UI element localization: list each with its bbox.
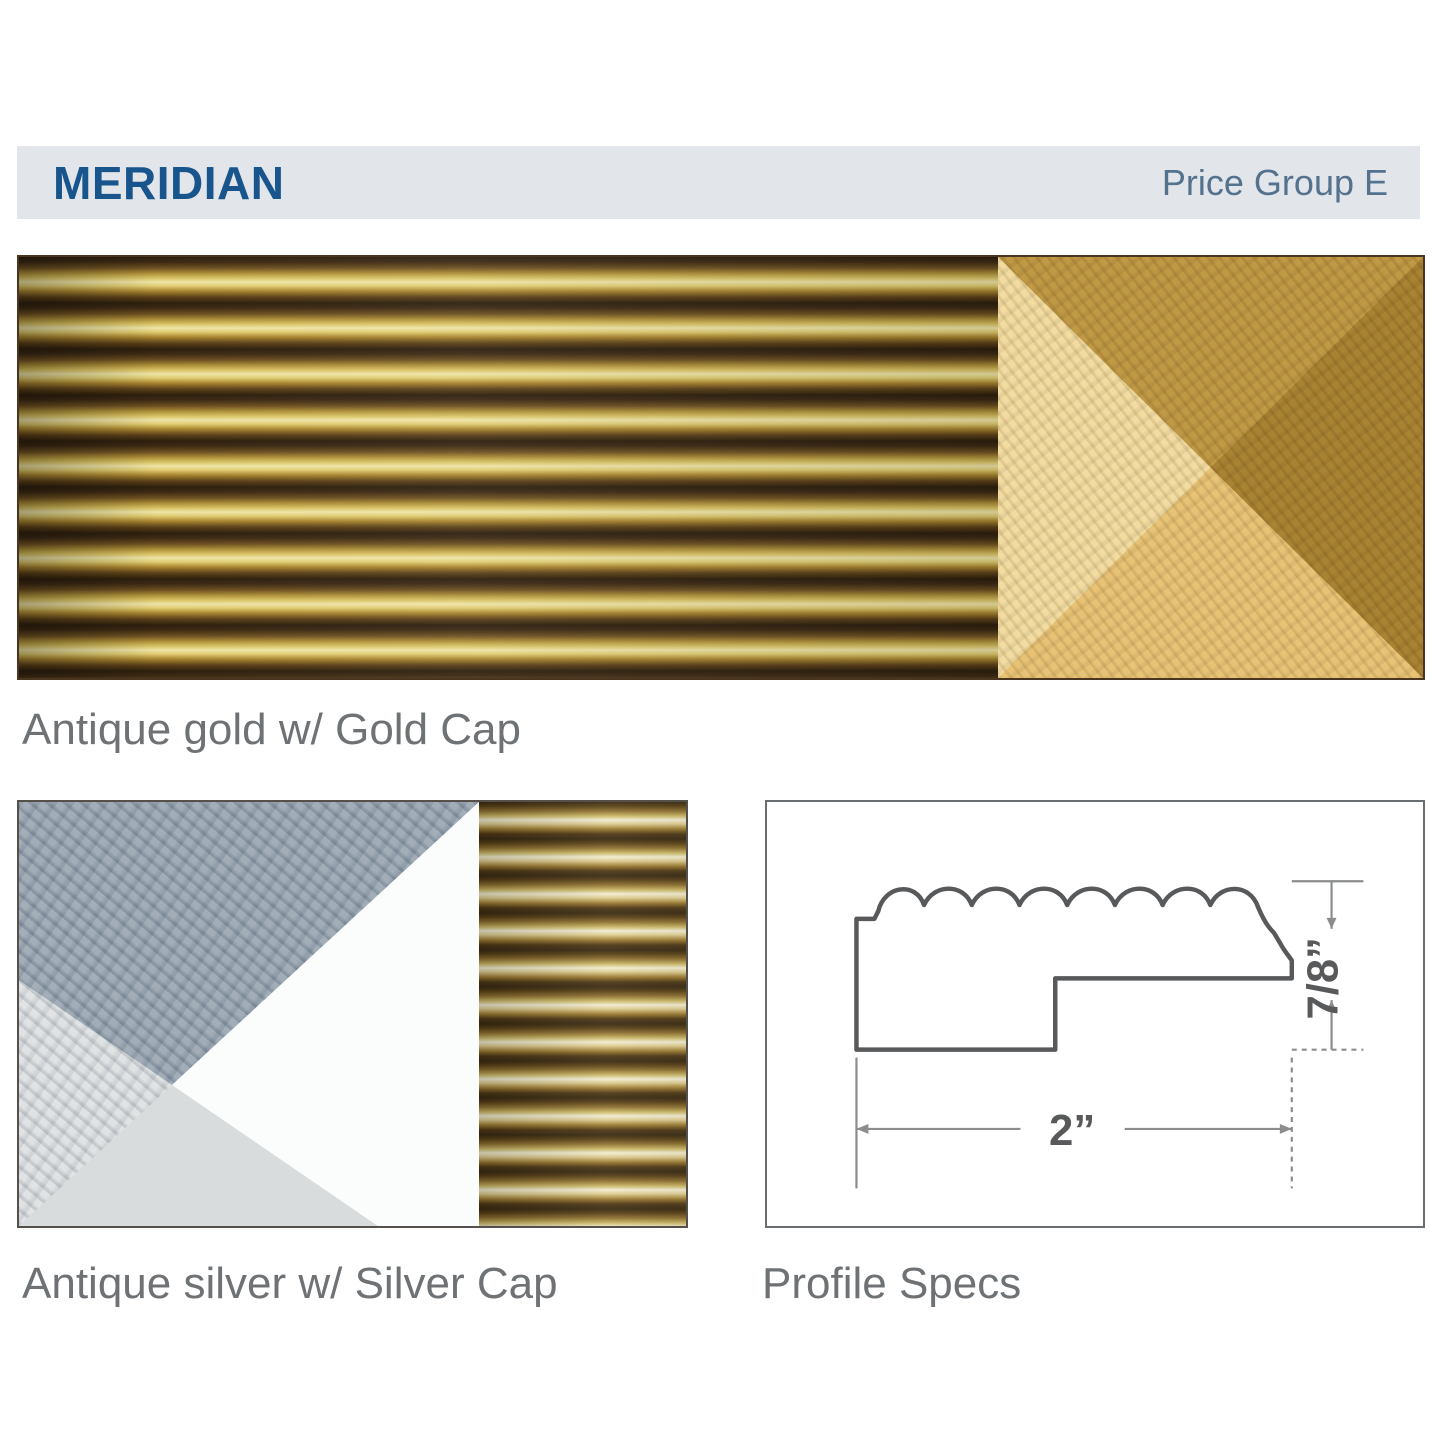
fluted-moulding-texture-gold [19, 257, 998, 678]
profile-specs-diagram: 7/8” 2” [765, 800, 1425, 1228]
dimension-arrow-left [856, 1124, 868, 1134]
dimension-arrow-up [1327, 918, 1337, 929]
sample-image-antique-gold [17, 255, 1425, 680]
height-dimension-label: 7/8” [1298, 937, 1347, 1019]
width-dimension-label: 2” [1049, 1106, 1095, 1155]
corner-cap-gold [998, 257, 1423, 678]
sample-image-antique-silver [17, 800, 688, 1228]
caption-profile-specs: Profile Specs [762, 1262, 1021, 1306]
moulding-outline [856, 889, 1291, 1050]
caption-antique-silver: Antique silver w/ Silver Cap [22, 1262, 558, 1306]
caption-antique-gold: Antique gold w/ Gold Cap [22, 708, 521, 752]
dimension-arrow-right [1280, 1124, 1292, 1134]
corner-cap-silver [19, 802, 479, 1226]
price-group-label: Price Group E [1162, 165, 1388, 201]
product-header-banner: MERIDIAN Price Group E [17, 146, 1420, 219]
gold-leaf-grain-overlay [998, 257, 1423, 678]
page-title: MERIDIAN [53, 160, 284, 206]
profile-cross-section-svg: 7/8” 2” [767, 802, 1423, 1226]
fluted-moulding-texture-silver [479, 802, 688, 1226]
